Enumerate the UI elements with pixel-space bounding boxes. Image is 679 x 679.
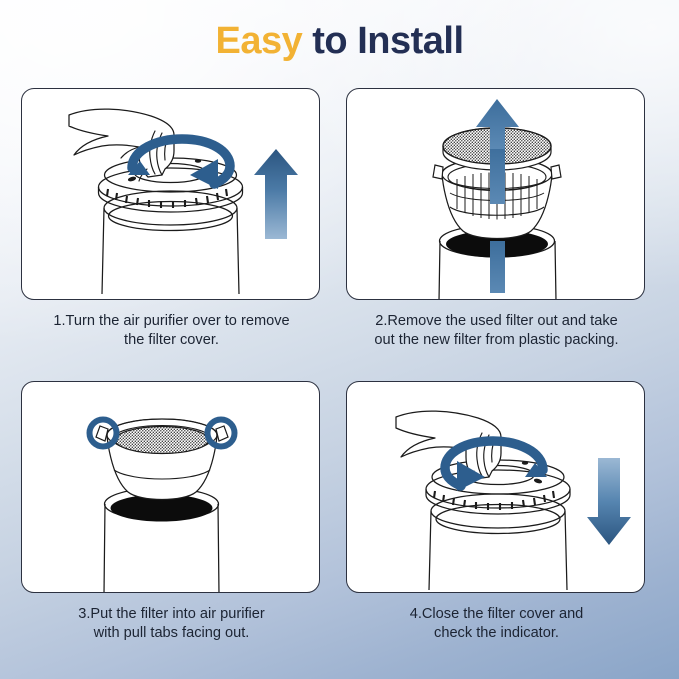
step-4-illustration-card xyxy=(346,381,645,593)
page-title-main: to Install xyxy=(312,20,463,62)
step-1-caption-line1: 1.Turn the air purifier over to remove xyxy=(53,313,289,329)
step-1-caption-line2: the filter cover. xyxy=(21,331,322,350)
step-3-illustration-card xyxy=(21,381,320,593)
step-4-illustration xyxy=(347,382,645,593)
step-2-caption-line2: out the new filter from plastic packing. xyxy=(346,331,647,350)
step-4-caption-line2: check the indicator. xyxy=(346,624,647,643)
step-2-caption: 2.Remove the used filter out and take ou… xyxy=(346,312,647,350)
page-title-accent: Easy xyxy=(215,20,302,62)
up-arrow xyxy=(254,149,298,239)
step-4-caption: 4.Close the filter cover and check the i… xyxy=(346,605,647,643)
infographic-page: Easy to Install xyxy=(0,0,679,679)
step-2-illustration-card xyxy=(346,88,645,300)
step-3-caption: 3.Put the filter into air purifier with … xyxy=(21,605,322,643)
step-panel-4: 4.Close the filter cover and check the i… xyxy=(346,381,647,643)
step-1-caption: 1.Turn the air purifier over to remove t… xyxy=(21,312,322,350)
step-3-illustration xyxy=(22,382,320,593)
step-panel-1: 1.Turn the air purifier over to remove t… xyxy=(21,88,322,350)
step-1-illustration xyxy=(22,89,320,300)
step-3-caption-line1: 3.Put the filter into air purifier xyxy=(78,606,265,622)
page-title: Easy to Install xyxy=(0,17,679,65)
step-2-caption-line1: 2.Remove the used filter out and take xyxy=(375,313,618,329)
steps-grid: 1.Turn the air purifier over to remove t… xyxy=(0,88,679,668)
down-arrow xyxy=(587,458,631,545)
step-1-illustration-card xyxy=(21,88,320,300)
step-panel-3: 3.Put the filter into air purifier with … xyxy=(21,381,322,643)
step-2-illustration xyxy=(347,89,645,300)
step-4-caption-line1: 4.Close the filter cover and xyxy=(410,606,584,622)
step-panel-2: 2.Remove the used filter out and take ou… xyxy=(346,88,647,350)
step-3-caption-line2: with pull tabs facing out. xyxy=(21,624,322,643)
